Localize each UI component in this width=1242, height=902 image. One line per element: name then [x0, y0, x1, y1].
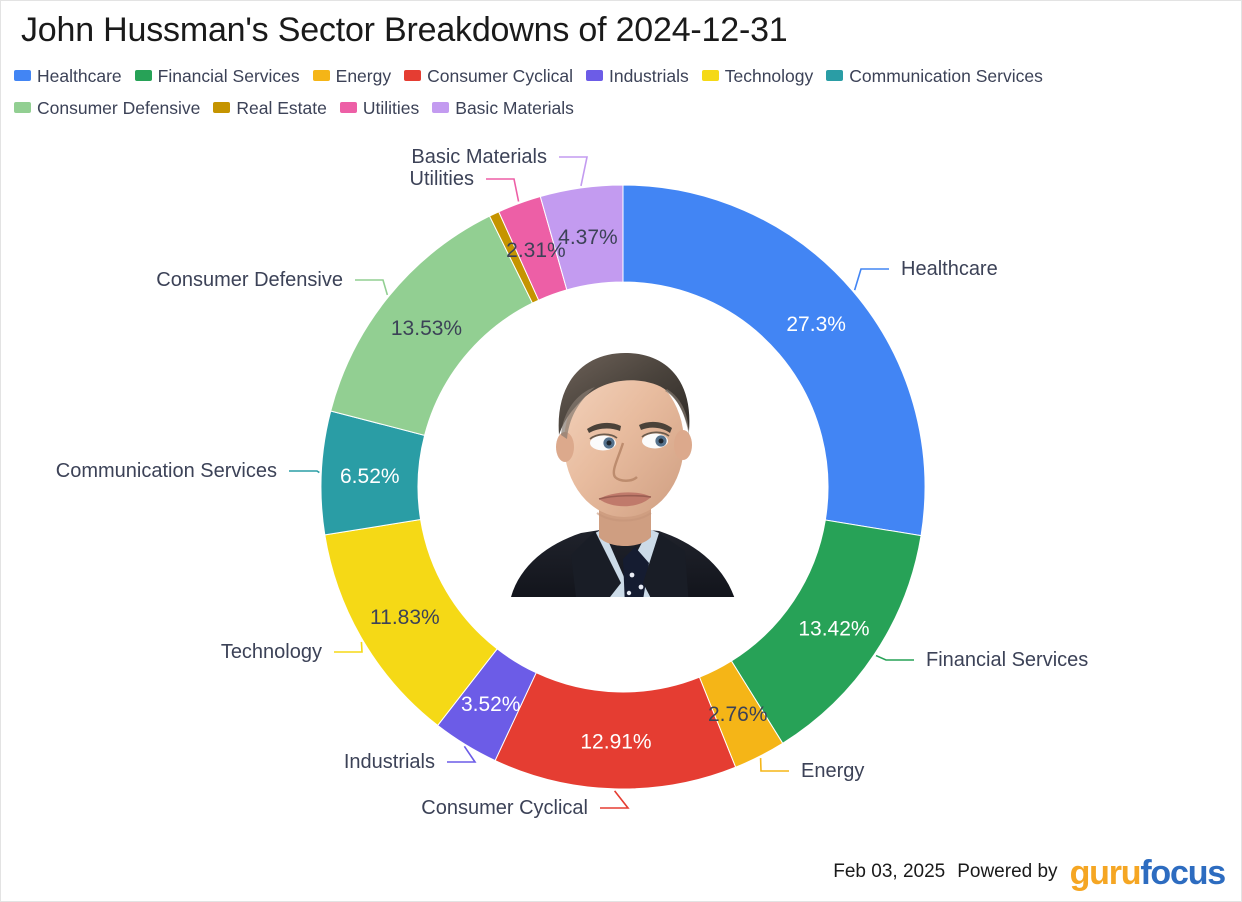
- callout-leader-line: [355, 280, 387, 295]
- chart-footer: Feb 03, 2025 Powered by gurufocus: [833, 855, 1225, 889]
- callout-leader-line: [289, 471, 319, 473]
- callout-label: Utilities: [410, 168, 474, 190]
- slice-percent-label: 4.37%: [558, 226, 618, 249]
- footer-date: Feb 03, 2025: [833, 861, 945, 883]
- callout-label: Energy: [801, 760, 864, 782]
- callout-label: Consumer Defensive: [156, 269, 343, 291]
- donut-slices: [321, 185, 925, 789]
- callout-leader-line: [855, 269, 889, 290]
- logo-text-focus: focus: [1140, 854, 1225, 892]
- slice-percent-label: 27.3%: [786, 313, 846, 336]
- footer-powered-by: Powered by: [957, 861, 1057, 883]
- chart-page: John Hussman's Sector Breakdowns of 2024…: [0, 0, 1242, 902]
- slice-percent-label: 13.53%: [391, 317, 462, 340]
- callout-label: Financial Services: [926, 649, 1088, 671]
- donut-slice[interactable]: [623, 185, 925, 536]
- callout-leader-line: [600, 791, 628, 808]
- callout-leader-line: [876, 656, 914, 660]
- callout-label: Communication Services: [56, 460, 277, 482]
- callout-leader-line: [761, 758, 789, 771]
- callout-label: Technology: [221, 641, 322, 663]
- slice-percent-label: 11.83%: [370, 606, 440, 629]
- callout-leader-line: [447, 746, 475, 762]
- slice-percent-label: 2.31%: [506, 239, 566, 262]
- slice-percent-label: 6.52%: [340, 465, 400, 488]
- callout-label: Healthcare: [901, 258, 998, 280]
- callout-label: Consumer Cyclical: [421, 797, 588, 819]
- callout-label: Basic Materials: [411, 146, 547, 168]
- slice-percent-label: 13.42%: [798, 618, 869, 641]
- donut-chart-svg: 27.3%13.42%2.76%12.91%3.52%11.83%6.52%13…: [1, 1, 1242, 902]
- gurufocus-logo[interactable]: gurufocus: [1070, 856, 1225, 890]
- callout-leader-line: [486, 179, 519, 201]
- logo-text-guru: guru: [1070, 854, 1141, 892]
- donut-chart: 27.3%13.42%2.76%12.91%3.52%11.83%6.52%13…: [1, 1, 1242, 902]
- slice-percent-label: 3.52%: [461, 693, 521, 716]
- callout-leader-line: [334, 642, 362, 652]
- slice-percent-label: 12.91%: [580, 730, 651, 753]
- callout-leader-line: [559, 157, 587, 186]
- callout-label: Industrials: [344, 751, 435, 773]
- slice-percent-label: 2.76%: [708, 703, 768, 726]
